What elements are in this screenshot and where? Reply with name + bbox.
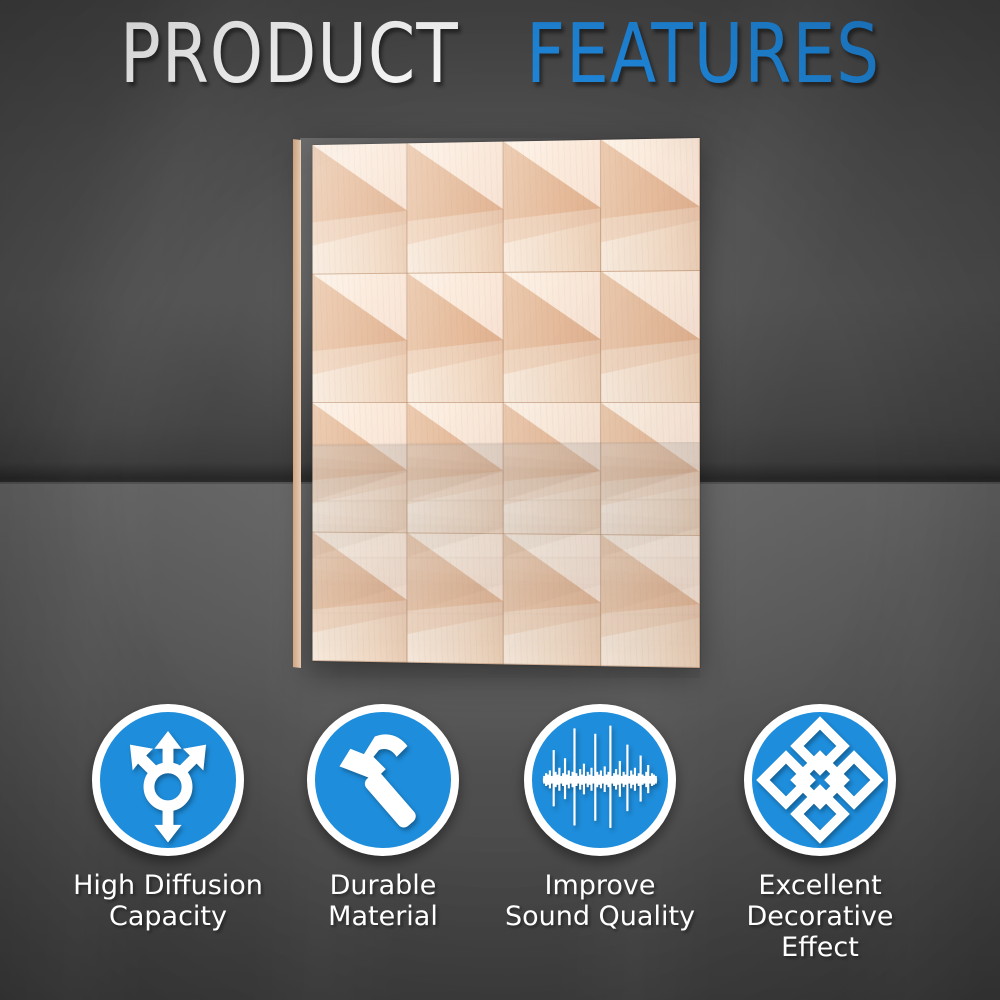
feature-icon-circle[interactable] xyxy=(744,704,896,856)
diffusion-arrows-icon xyxy=(100,712,236,848)
feature-icon-circle[interactable] xyxy=(92,704,244,856)
feature-item-improve-sound-quality[interactable]: Improve Sound Quality xyxy=(480,704,720,932)
caption-line-2: Capacity xyxy=(48,901,288,932)
feature-caption: Durable Material xyxy=(263,870,503,932)
feature-item-excellent-decorative-effect[interactable]: Excellent Decorative Effect xyxy=(700,704,940,963)
caption-line-2: Material xyxy=(263,901,503,932)
caption-line-1: High Diffusion xyxy=(48,870,288,901)
feature-caption: Improve Sound Quality xyxy=(480,870,720,932)
feature-icon-circle[interactable] xyxy=(524,704,676,856)
caption-line-2: Decorative xyxy=(700,901,940,932)
diamond-ornament-icon xyxy=(752,712,888,848)
caption-line-1: Durable xyxy=(263,870,503,901)
caption-line-3: Effect xyxy=(700,932,940,963)
hammer-icon xyxy=(315,712,451,848)
caption-line-1: Excellent xyxy=(700,870,940,901)
product-features-banner: PRODUCT FEATURES xyxy=(0,0,1000,1000)
feature-caption: Excellent Decorative Effect xyxy=(700,870,940,963)
feature-caption: High Diffusion Capacity xyxy=(48,870,288,932)
feature-item-durable-material[interactable]: Durable Material xyxy=(263,704,503,932)
caption-line-2: Sound Quality xyxy=(480,901,720,932)
feature-icon-circle[interactable] xyxy=(307,704,459,856)
caption-line-1: Improve xyxy=(480,870,720,901)
sound-waveform-icon xyxy=(532,712,668,848)
feature-row: High Diffusion Capacity Durable Material xyxy=(0,700,1000,1000)
feature-item-high-diffusion-capacity[interactable]: High Diffusion Capacity xyxy=(48,704,288,932)
